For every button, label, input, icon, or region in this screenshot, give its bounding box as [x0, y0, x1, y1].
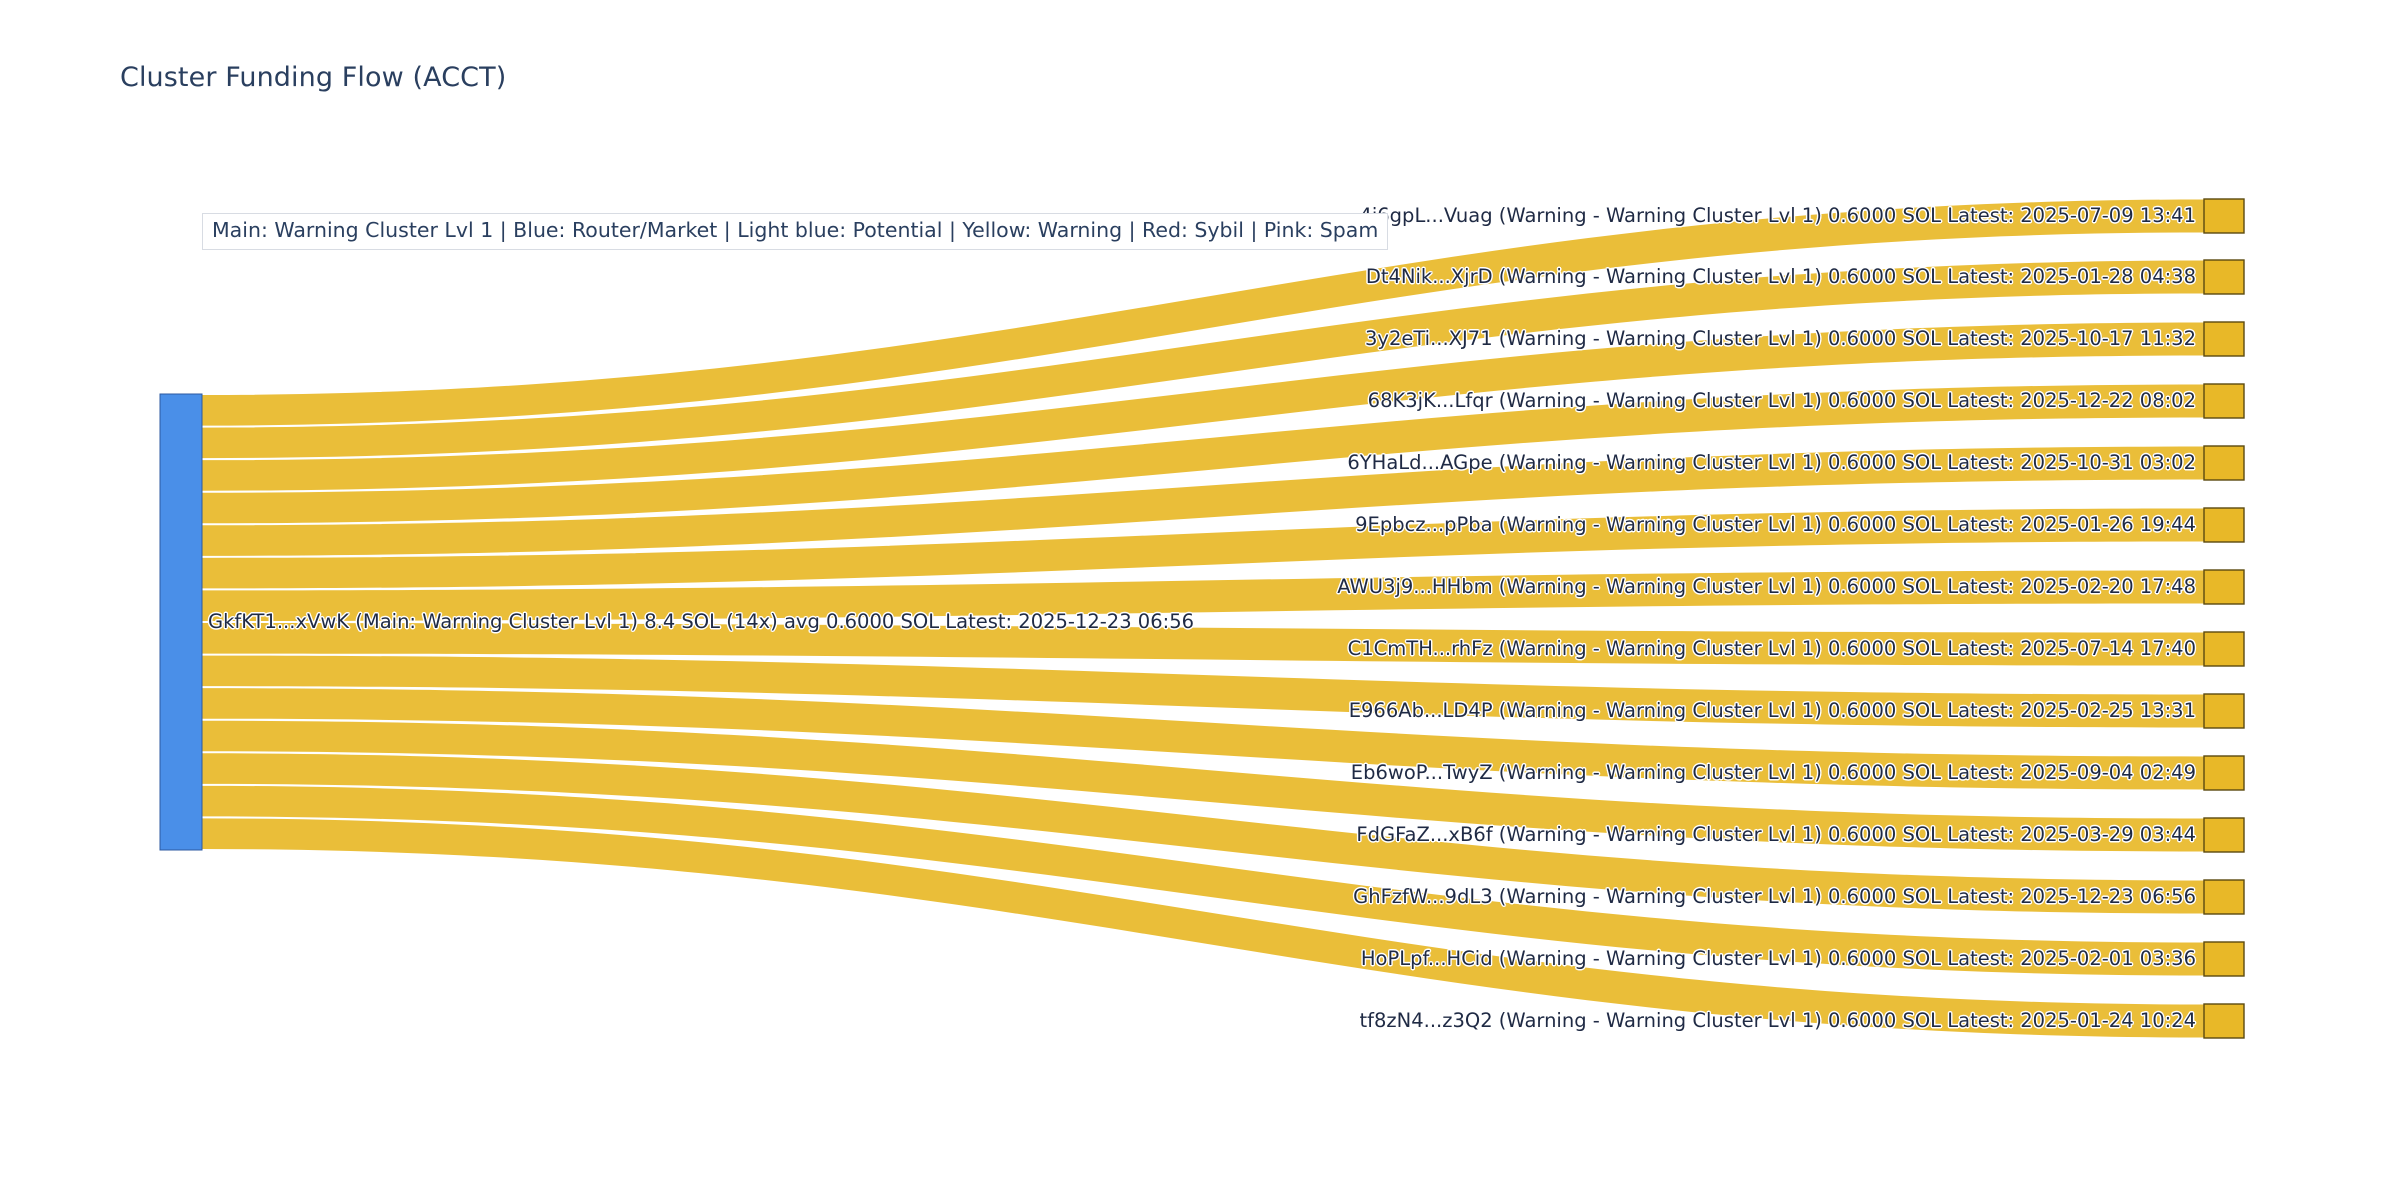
sankey-target-node[interactable]	[2204, 446, 2244, 480]
sankey-target-node[interactable]	[2204, 818, 2244, 852]
sankey-chart-root: Cluster Funding Flow (ACCT) Main: Warnin…	[0, 0, 2400, 1200]
sankey-target-node[interactable]	[2204, 694, 2244, 728]
sankey-target-node[interactable]	[2204, 570, 2244, 604]
sankey-diagram	[0, 0, 2400, 1200]
sankey-target-node[interactable]	[2204, 880, 2244, 914]
sankey-target-node[interactable]	[2204, 384, 2244, 418]
sankey-target-node[interactable]	[2204, 322, 2244, 356]
sankey-target-node[interactable]	[2204, 508, 2244, 542]
sankey-target-node[interactable]	[2204, 260, 2244, 294]
sankey-link[interactable]	[202, 818, 2204, 1037]
sankey-target-node[interactable]	[2204, 199, 2244, 233]
sankey-target-node[interactable]	[2204, 942, 2244, 976]
sankey-target-node[interactable]	[2204, 756, 2244, 790]
sankey-target-node[interactable]	[2204, 1004, 2244, 1038]
legend-annotation: Main: Warning Cluster Lvl 1 | Blue: Rout…	[202, 213, 1388, 250]
sankey-source-node[interactable]	[160, 394, 202, 850]
sankey-links-group	[202, 200, 2204, 1038]
sankey-target-node[interactable]	[2204, 632, 2244, 666]
